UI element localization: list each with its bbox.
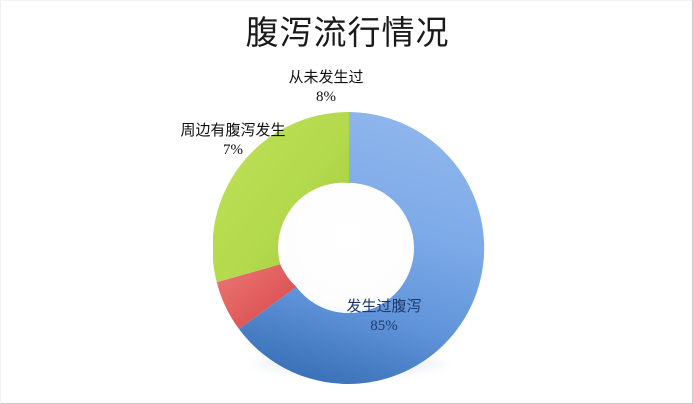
slice-label-never-occurred-value: 8%	[256, 88, 396, 107]
slice-label-had-diarrhea-value: 85%	[319, 317, 449, 336]
slice-label-nearby-diarrhea-value: 7%	[153, 141, 313, 160]
slice-label-never-occurred: 从未发生过 8%	[256, 68, 396, 107]
slice-label-had-diarrhea-name: 发生过腹泻	[319, 297, 449, 317]
slice-label-had-diarrhea: 发生过腹泻 85%	[319, 297, 449, 336]
slice-label-nearby-diarrhea: 周边有腹泻发生 7%	[153, 121, 313, 160]
chart-title: 腹泻流行情况	[1, 12, 693, 56]
chart-canvas: 腹泻流行情况	[0, 0, 693, 404]
slice-label-nearby-diarrhea-name: 周边有腹泻发生	[153, 121, 313, 141]
donut-center-hole	[284, 183, 414, 313]
slice-label-never-occurred-name: 从未发生过	[256, 68, 396, 88]
